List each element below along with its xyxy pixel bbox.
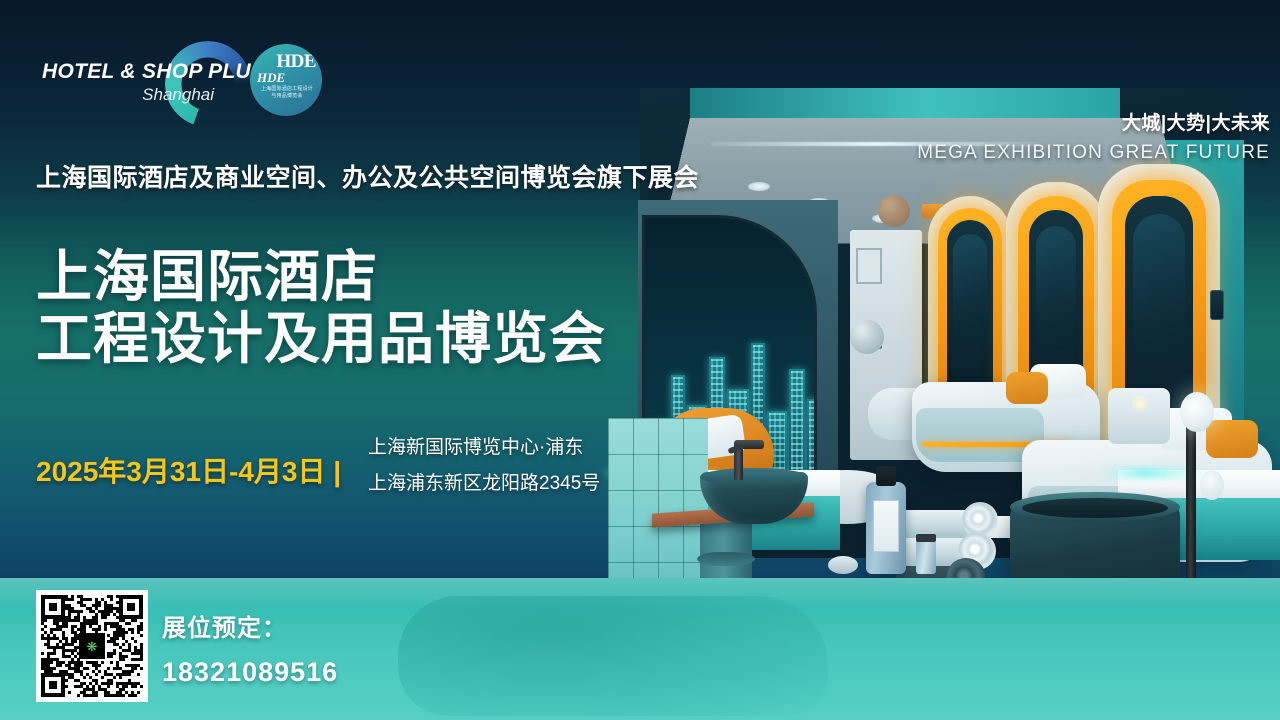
- venue-line-1: 上海新国际博览中心·浦东: [368, 430, 668, 466]
- wall-picture: [856, 248, 882, 284]
- event-subtitle: 上海国际酒店及商业空间、办公及公共空间博览会旗下展会: [36, 158, 796, 194]
- booth-booking-label: 展位预定：: [162, 608, 338, 643]
- hde-badge[interactable]: HDE HDE 上海国际酒店工程设计 与用品博览会: [250, 44, 322, 116]
- floor-lamp-globe: [1180, 392, 1214, 432]
- logo-main-text: HOTEL & SHOP PLUS: [42, 60, 232, 84]
- soap-dish: [828, 556, 858, 574]
- hde-chinese-line1: 上海国际酒店工程设计: [257, 86, 317, 93]
- venue-line-2: 上海浦东新区龙阳路2345号: [368, 466, 668, 502]
- slogan-english: MEGA EXHIBITION GREAT FUTURE: [917, 142, 1270, 164]
- hde-chinese-text: 上海国际酒店工程设计 与用品博览会: [257, 86, 317, 100]
- amenity-jar-cap: [916, 534, 936, 542]
- amenity-bottle-label: [873, 500, 899, 552]
- page-title: 上海国际酒店 工程设计及用品博览会: [36, 246, 656, 370]
- logo-sub-text: Shanghai: [42, 85, 232, 105]
- title-line-1: 上海国际酒店: [36, 246, 656, 308]
- promo-banner: HOTEL & SHOP PLUS Shanghai HDE HDE 上海国际酒…: [0, 0, 1280, 720]
- hde-chinese-line2: 与用品博览会: [257, 93, 317, 100]
- qr-finder-top-left: [41, 595, 65, 619]
- booth-booking-contact: 展位预定： 18321089516: [162, 608, 338, 688]
- event-dates: 2025年3月31日-4月3日 |: [36, 450, 341, 490]
- event-venue: 上海新国际博览中心·浦东 上海浦东新区龙阳路2345号: [368, 430, 668, 502]
- booth-booking-phone[interactable]: 18321089516: [162, 657, 338, 688]
- hde-mark-small: HDE: [257, 70, 285, 86]
- wall-clock: [878, 195, 910, 227]
- bed-accent-pillow-near: [1206, 420, 1258, 458]
- floor-shadow-blob: [398, 596, 828, 716]
- wechat-logo-icon: ❋: [79, 633, 105, 659]
- amenity-jar: [916, 540, 936, 574]
- bathtub-interior: [1022, 498, 1168, 518]
- vessel-sink-rim: [700, 468, 808, 486]
- wechat-qr-code[interactable]: ❋: [36, 590, 148, 702]
- bed-accent-pillow: [1006, 372, 1048, 404]
- slogan-chinese: 大城|大势|大未来: [917, 108, 1270, 135]
- nightstand-lamp-glow: [1132, 396, 1148, 412]
- wall-porthole: [850, 320, 884, 354]
- qr-finder-bottom-left: [41, 673, 65, 697]
- floor-lamp-globe-small: [1200, 470, 1224, 500]
- title-line-2: 工程设计及用品博览会: [36, 308, 656, 370]
- amenity-bottle-cap: [876, 466, 896, 486]
- event-slogan: 大城|大势|大未来 MEGA EXHIBITION GREAT FUTURE: [917, 108, 1270, 164]
- qr-center-glyph: ❋: [87, 640, 98, 653]
- qr-code-pattern: ❋: [41, 595, 143, 697]
- logo-wordmark: HOTEL & SHOP PLUS Shanghai: [42, 60, 232, 105]
- qr-finder-top-right: [119, 595, 143, 619]
- vanity-pedestal-lip: [697, 552, 755, 566]
